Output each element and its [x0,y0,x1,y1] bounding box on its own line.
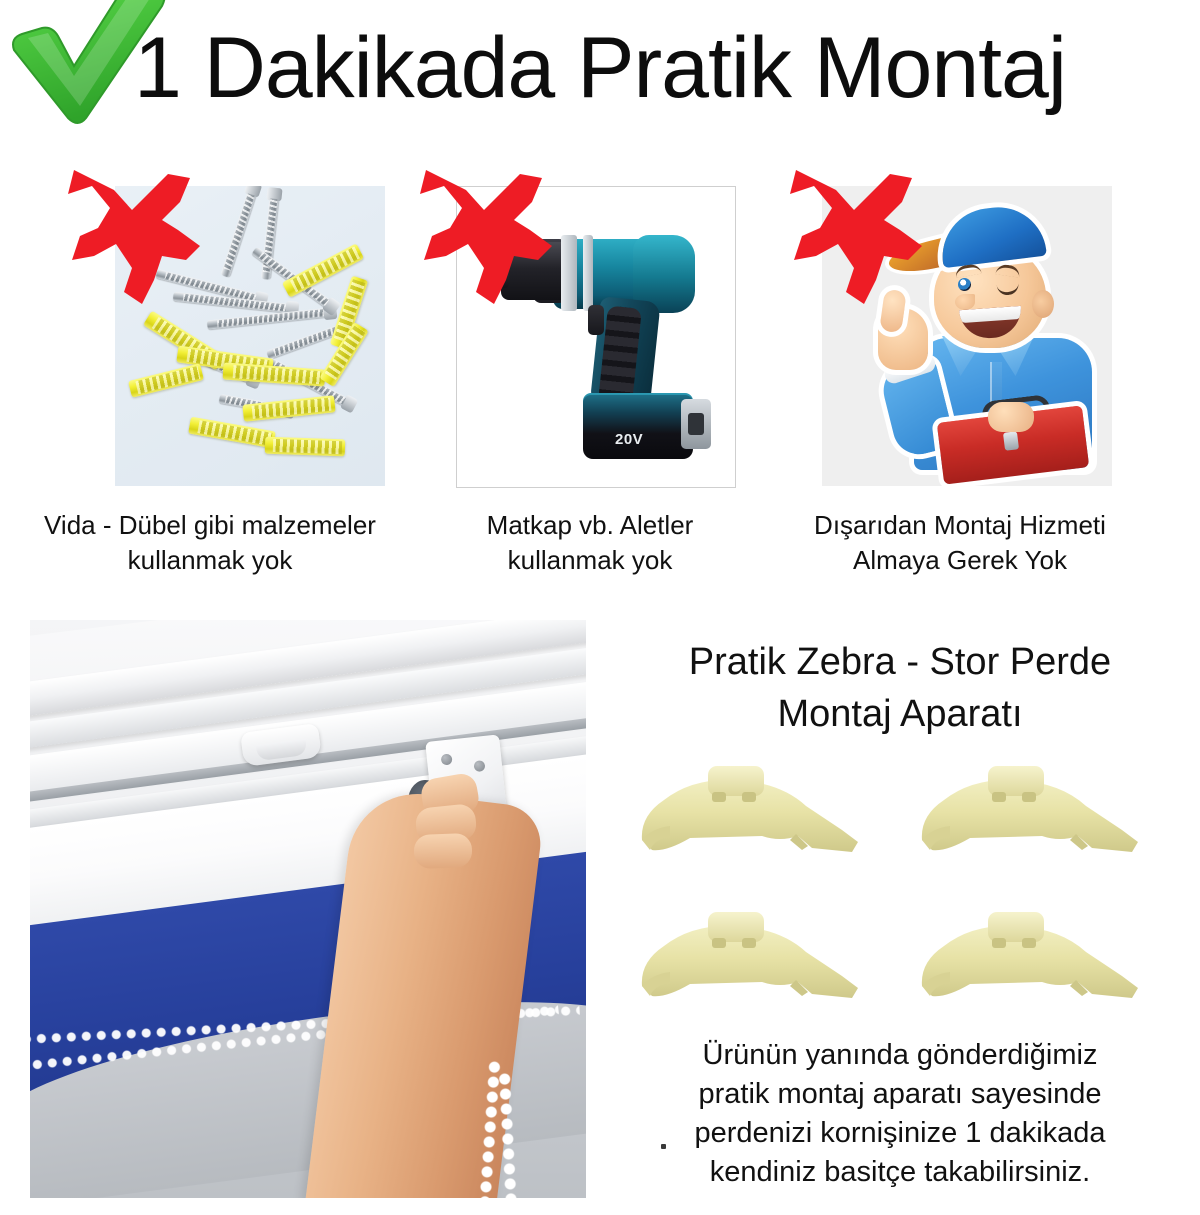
blind-installation-photo [30,620,586,1198]
dont-caption-screws: Vida - Dübel gibi malzemeler kullanmak y… [30,508,390,578]
description-line-4: kendiniz basitçe takabilirsiniz. [710,1156,1090,1188]
battery-voltage-label: 20V [615,431,643,448]
dont-caption-drill: Matkap vb. Aletler kullanmak yok [410,508,770,578]
mounting-clip-4 [910,902,1150,1006]
caption-line-2: kullanmak yok [128,545,293,575]
mounting-clip-1 [630,756,870,860]
stray-dot-mark [661,1144,666,1149]
cordless-drill-photo: 20V [456,186,736,488]
dont-caption-installer: Dışarıdan Montaj Hizmeti Almaya Gerek Yo… [780,508,1140,578]
dont-items-row: Vida - Dübel gibi malzemeler kullanmak y… [0,168,1200,588]
description-line-3: perdenizi kornişinize 1 dakikada [694,1117,1105,1149]
product-heading: Pratik Zebra - Stor Perde Montaj Aparatı [600,636,1200,740]
screws-scene [115,186,385,486]
caption-line-1: Matkap vb. Aletler [487,510,694,540]
product-heading-line-2: Montaj Aparatı [777,693,1022,735]
dont-item-screws: Vida - Dübel gibi malzemeler kullanmak y… [30,168,390,588]
description-line-1: Ürünün yanında gönderdiğimiz [703,1039,1098,1071]
mounting-clips-grid [610,756,1190,1006]
product-description: Ürünün yanında gönderdiğimiz pratik mont… [620,1036,1180,1192]
dont-item-installer: Dışarıdan Montaj Hizmeti Almaya Gerek Yo… [780,168,1140,588]
caption-line-2: kullanmak yok [508,545,673,575]
screws-and-dowels-photo [115,186,385,486]
caption-line-1: Dışarıdan Montaj Hizmeti [814,510,1106,540]
handyman-illustration [822,186,1112,486]
mounting-clip-3 [630,902,870,1006]
drill-illustration: 20V [457,187,735,487]
caption-line-1: Vida - Dübel gibi malzemeler [44,510,376,540]
mounting-clip-2 [910,756,1150,860]
description-line-2: pratik montaj aparatı sayesinde [699,1078,1102,1110]
product-heading-line-1: Pratik Zebra - Stor Perde [689,641,1111,683]
handyman-thumbs-up-photo [822,186,1112,486]
page-title: 1 Dakikada Pratik Montaj [0,18,1200,118]
caption-line-2: Almaya Gerek Yok [853,545,1067,575]
dont-item-drill: 20V Matkap vb. Aletler kullanmak yok [410,168,770,588]
